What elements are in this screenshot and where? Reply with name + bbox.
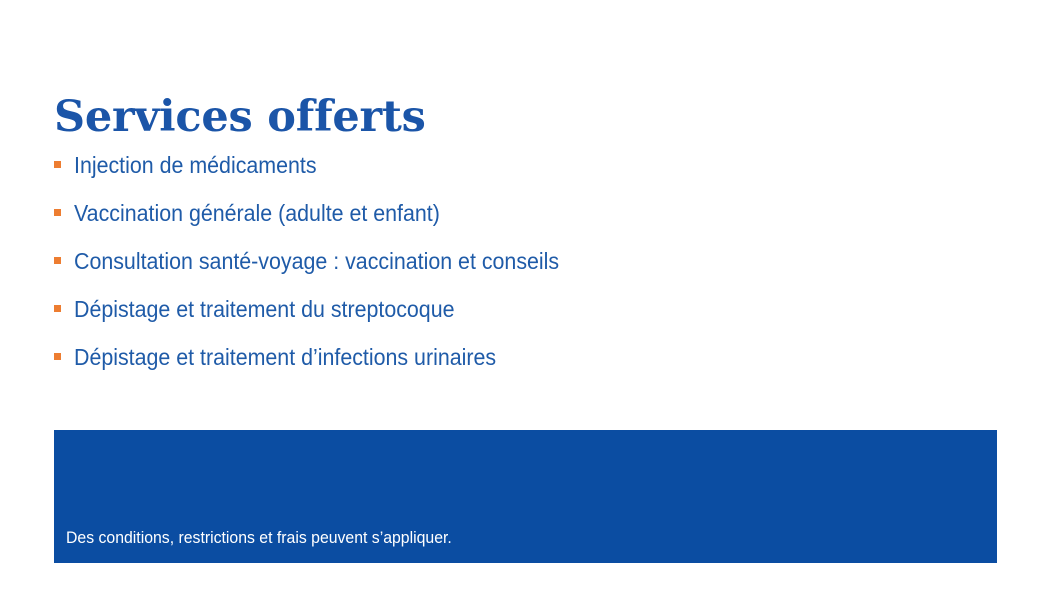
- list-item-label: Vaccination générale (adulte et enfant): [74, 199, 440, 227]
- square-bullet-icon: [54, 209, 61, 216]
- page-title: Services offerts: [54, 91, 426, 143]
- list-item-label: Dépistage et traitement du streptocoque: [74, 295, 455, 323]
- footer-banner: Des conditions, restrictions et frais pe…: [54, 430, 997, 563]
- services-bullet-list: Injection de médicaments Vaccination gén…: [54, 141, 954, 381]
- list-item: Injection de médicaments: [54, 141, 954, 189]
- disclaimer-text: Des conditions, restrictions et frais pe…: [66, 527, 452, 549]
- square-bullet-icon: [54, 353, 61, 360]
- list-item: Consultation santé-voyage : vaccination …: [54, 237, 954, 285]
- slide-canvas: Services offerts Injection de médicament…: [0, 0, 1050, 600]
- list-item: Dépistage et traitement du streptocoque: [54, 285, 954, 333]
- list-item: Vaccination générale (adulte et enfant): [54, 189, 954, 237]
- square-bullet-icon: [54, 305, 61, 312]
- square-bullet-icon: [54, 161, 61, 168]
- list-item: Dépistage et traitement d’infections uri…: [54, 333, 954, 381]
- list-item-label: Consultation santé-voyage : vaccination …: [74, 247, 559, 275]
- list-item-label: Dépistage et traitement d’infections uri…: [74, 343, 496, 371]
- square-bullet-icon: [54, 257, 61, 264]
- list-item-label: Injection de médicaments: [74, 151, 317, 179]
